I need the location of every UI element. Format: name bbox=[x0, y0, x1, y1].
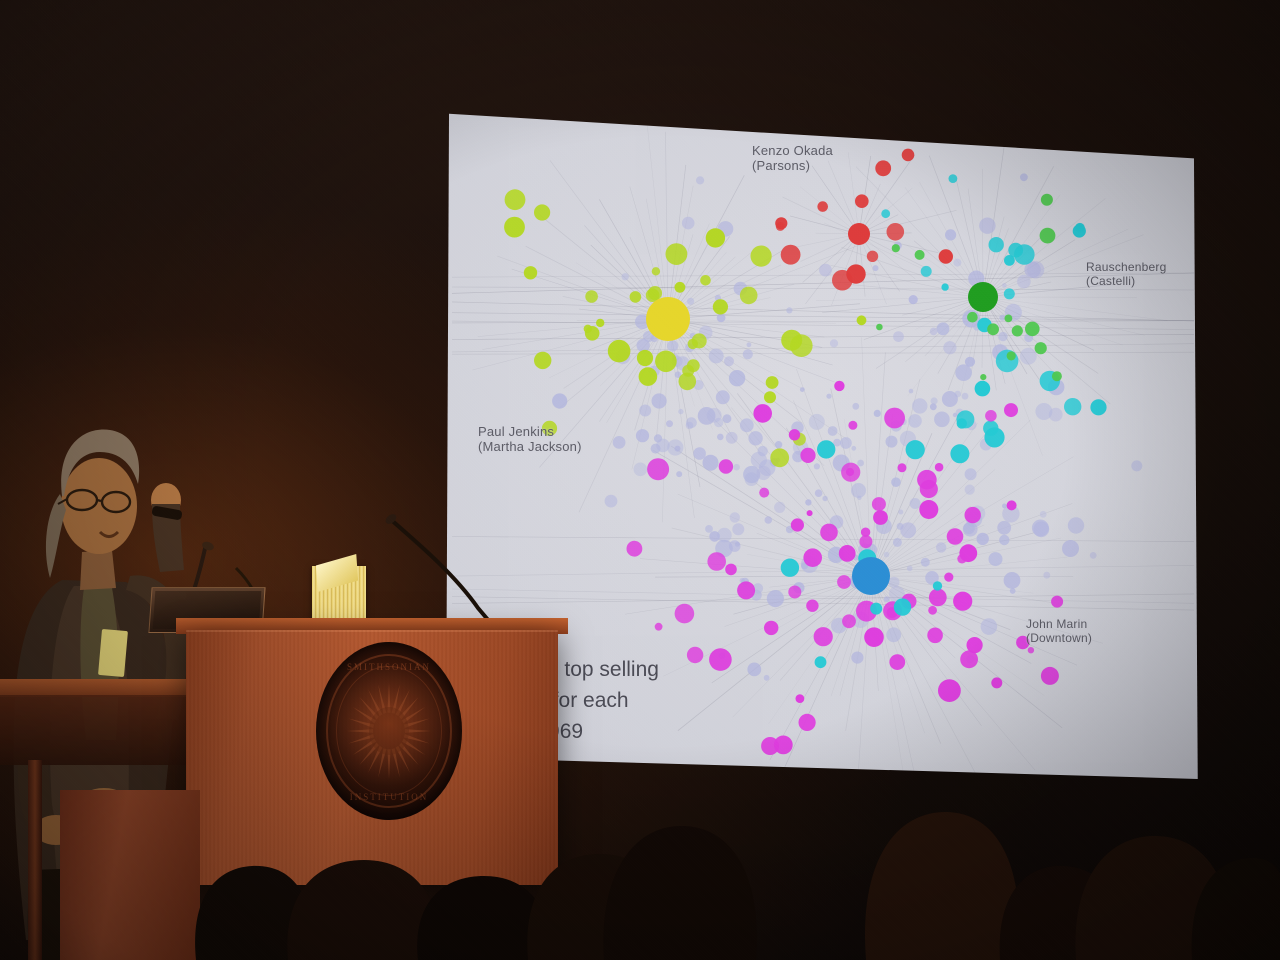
network-node bbox=[1068, 517, 1084, 533]
network-node bbox=[893, 331, 904, 342]
network-node bbox=[724, 356, 734, 366]
speaker-neck bbox=[80, 550, 116, 590]
network-node bbox=[774, 502, 785, 513]
network-node bbox=[799, 714, 816, 731]
network-node bbox=[889, 654, 905, 670]
network-edge bbox=[668, 165, 686, 319]
network-node bbox=[900, 522, 916, 538]
network-node bbox=[687, 647, 703, 663]
speaker-ponytail bbox=[46, 494, 66, 578]
network-edge bbox=[452, 302, 1194, 321]
network-node bbox=[791, 518, 804, 531]
network-edge bbox=[452, 313, 1194, 321]
network-hub-node bbox=[848, 223, 870, 245]
network-node bbox=[826, 394, 831, 399]
network-node bbox=[944, 573, 953, 582]
network-node bbox=[751, 246, 772, 267]
network-node bbox=[857, 460, 864, 467]
network-node bbox=[842, 614, 856, 628]
network-node bbox=[936, 542, 946, 552]
network-node bbox=[534, 204, 550, 220]
network-node bbox=[941, 283, 948, 290]
network-node bbox=[1043, 572, 1050, 579]
network-node bbox=[815, 489, 823, 497]
network-node bbox=[732, 523, 744, 535]
seal-text-top: SMITHSONIAN bbox=[316, 662, 462, 672]
network-node bbox=[675, 282, 686, 293]
network-edge bbox=[983, 297, 1094, 350]
network-edge bbox=[452, 344, 1194, 352]
network-node bbox=[1035, 342, 1047, 354]
network-node bbox=[981, 618, 998, 635]
network-node bbox=[737, 581, 755, 599]
network-node bbox=[1131, 460, 1142, 471]
network-node bbox=[989, 237, 1004, 252]
network-node bbox=[740, 418, 754, 432]
network-node bbox=[892, 244, 900, 252]
network-node bbox=[870, 603, 882, 615]
network-node bbox=[1028, 647, 1034, 653]
network-node bbox=[655, 623, 663, 631]
network-node bbox=[806, 600, 818, 612]
network-node bbox=[608, 340, 631, 363]
network-node bbox=[997, 521, 1011, 535]
network-node bbox=[675, 604, 695, 624]
network-node bbox=[639, 405, 651, 417]
network-edge bbox=[842, 284, 983, 297]
network-node bbox=[814, 627, 833, 646]
network-node bbox=[605, 495, 618, 508]
label-artist: Rauschenberg bbox=[1086, 260, 1166, 274]
network-node bbox=[884, 596, 890, 602]
network-edge bbox=[526, 246, 668, 319]
network-node bbox=[709, 648, 732, 671]
label-gallery: (Downtown) bbox=[1026, 631, 1092, 645]
network-node bbox=[851, 446, 856, 451]
network-node bbox=[682, 217, 695, 230]
network-node bbox=[857, 315, 867, 325]
network-node bbox=[714, 418, 723, 427]
network-node bbox=[1041, 194, 1053, 206]
audience-head bbox=[865, 812, 1019, 960]
network-edge bbox=[816, 297, 983, 301]
network-node bbox=[666, 420, 673, 427]
network-node bbox=[983, 421, 998, 436]
network-node bbox=[723, 414, 732, 423]
network-node bbox=[647, 458, 669, 480]
label-gallery: (Castelli) bbox=[1086, 274, 1166, 288]
network-node bbox=[700, 275, 711, 286]
network-node bbox=[796, 694, 805, 703]
side-table-body bbox=[0, 695, 194, 765]
network-node bbox=[930, 328, 938, 336]
network-node bbox=[1035, 403, 1052, 420]
network-node bbox=[887, 223, 905, 241]
network-node bbox=[807, 510, 813, 516]
network-node bbox=[719, 459, 733, 473]
network-node bbox=[1090, 399, 1106, 415]
network-node bbox=[934, 412, 950, 428]
network-node bbox=[676, 471, 682, 477]
network-node bbox=[675, 446, 681, 452]
network-node bbox=[902, 149, 915, 162]
network-node bbox=[906, 440, 925, 459]
network-node bbox=[884, 408, 905, 429]
network-node bbox=[817, 201, 828, 212]
network-node bbox=[872, 497, 886, 511]
network-node bbox=[730, 512, 740, 522]
network-node bbox=[748, 431, 762, 445]
network-node bbox=[953, 259, 961, 267]
network-node bbox=[652, 267, 660, 275]
network-node bbox=[803, 548, 822, 567]
network-node bbox=[876, 324, 883, 331]
label-artist: John Marin bbox=[1026, 617, 1087, 631]
label-gallery: (Martha Jackson) bbox=[478, 439, 582, 454]
network-node bbox=[855, 194, 869, 208]
network-edge bbox=[452, 565, 1194, 576]
network-node bbox=[837, 575, 851, 589]
network-node bbox=[534, 352, 551, 369]
network-node bbox=[717, 313, 726, 322]
projection-screen: Kenzo Okada (Parsons) Rauschenberg (Cast… bbox=[446, 107, 1200, 783]
audience-silhouettes bbox=[0, 780, 1280, 960]
network-node bbox=[873, 265, 879, 271]
network-node bbox=[953, 592, 972, 611]
network-node bbox=[1007, 351, 1016, 360]
network-node bbox=[692, 333, 707, 348]
network-node bbox=[921, 558, 930, 567]
network-node bbox=[809, 414, 825, 430]
network-hub-node bbox=[646, 297, 690, 341]
network-node bbox=[1040, 511, 1047, 518]
network-node bbox=[965, 468, 977, 480]
network-node bbox=[764, 391, 776, 403]
network-edge bbox=[452, 321, 1194, 329]
network-node bbox=[898, 463, 907, 472]
audience-row bbox=[195, 812, 1280, 960]
network-node bbox=[1073, 224, 1086, 237]
network-node bbox=[884, 552, 890, 558]
network-node bbox=[1025, 322, 1040, 337]
network-node bbox=[637, 339, 650, 352]
network-node bbox=[820, 524, 838, 542]
network-node bbox=[743, 349, 753, 359]
network-node bbox=[686, 417, 697, 428]
network-node bbox=[1020, 348, 1037, 365]
network-node bbox=[942, 391, 958, 407]
network-node bbox=[596, 319, 604, 327]
network-node bbox=[753, 404, 772, 423]
network-edge bbox=[452, 273, 1194, 293]
network-node bbox=[687, 298, 694, 305]
network-node bbox=[881, 209, 890, 218]
network-node bbox=[613, 436, 626, 449]
network-node bbox=[859, 535, 872, 548]
network-node bbox=[938, 679, 961, 702]
network-node bbox=[706, 228, 725, 247]
network-node bbox=[920, 480, 938, 498]
network-node bbox=[1020, 173, 1028, 181]
slide-label-paul-jenkins: Paul Jenkins (Martha Jackson) bbox=[478, 424, 582, 454]
network-node bbox=[1004, 288, 1015, 299]
slide-label-john-marin: John Marin (Downtown) bbox=[1026, 617, 1092, 645]
network-node bbox=[815, 656, 827, 668]
network-node bbox=[840, 437, 852, 449]
network-node bbox=[1051, 596, 1063, 608]
network-node bbox=[634, 463, 648, 477]
network-node bbox=[716, 390, 730, 404]
network-node bbox=[1064, 398, 1081, 415]
network-node bbox=[999, 535, 1009, 545]
network-node bbox=[800, 448, 815, 463]
network-node bbox=[1002, 283, 1007, 288]
network-node bbox=[667, 340, 678, 351]
network-node bbox=[817, 440, 835, 458]
network-node bbox=[766, 376, 779, 389]
network-node bbox=[584, 325, 592, 333]
network-node bbox=[1052, 371, 1062, 381]
network-node bbox=[636, 429, 649, 442]
network-node bbox=[857, 496, 861, 500]
network-node bbox=[1033, 521, 1049, 537]
network-node bbox=[505, 189, 526, 210]
network-node bbox=[682, 365, 694, 377]
network-node bbox=[678, 409, 683, 414]
network-node bbox=[651, 444, 661, 454]
network-node bbox=[1090, 552, 1097, 559]
network-node bbox=[991, 677, 1002, 688]
network-node bbox=[999, 315, 1005, 321]
network-node bbox=[622, 273, 629, 280]
network-node bbox=[886, 436, 898, 448]
network-node bbox=[1041, 667, 1059, 685]
network-node bbox=[945, 229, 956, 240]
network-node bbox=[975, 381, 991, 397]
network-node bbox=[898, 510, 903, 515]
network-node bbox=[775, 217, 787, 229]
network-node bbox=[912, 398, 927, 413]
network-node bbox=[585, 290, 598, 303]
network-node bbox=[851, 483, 866, 498]
network-node bbox=[828, 426, 838, 436]
network-node bbox=[848, 421, 857, 430]
network-node bbox=[867, 251, 878, 262]
network-node bbox=[977, 533, 989, 545]
network-node bbox=[907, 566, 913, 572]
network-node bbox=[639, 367, 658, 386]
network-node bbox=[747, 342, 752, 347]
network-node bbox=[814, 463, 820, 469]
network-edge bbox=[655, 576, 871, 577]
network-node bbox=[652, 393, 667, 408]
network-node bbox=[1005, 315, 1013, 323]
network-node bbox=[894, 598, 911, 615]
network-node bbox=[735, 542, 740, 547]
network-node bbox=[928, 606, 937, 615]
network-node bbox=[933, 581, 942, 590]
network-node bbox=[630, 291, 642, 303]
network-node bbox=[775, 441, 782, 448]
network-node bbox=[919, 500, 938, 519]
network-node bbox=[709, 531, 720, 542]
network-node bbox=[830, 339, 838, 347]
network-node bbox=[725, 564, 737, 576]
network-node bbox=[939, 249, 953, 263]
network-node bbox=[740, 287, 758, 305]
network-node bbox=[998, 332, 1007, 341]
network-node bbox=[800, 387, 805, 392]
network-node bbox=[965, 485, 975, 495]
photo-stage: Kenzo Okada (Parsons) Rauschenberg (Cast… bbox=[0, 0, 1280, 960]
network-node bbox=[765, 516, 773, 524]
network-node bbox=[967, 312, 978, 323]
network-node bbox=[781, 330, 802, 351]
network-node bbox=[1007, 500, 1017, 510]
network-node bbox=[979, 218, 995, 234]
network-node bbox=[962, 393, 969, 400]
network-edge bbox=[452, 334, 1194, 339]
network-node bbox=[985, 410, 997, 422]
network-node bbox=[980, 374, 986, 380]
slide-label-kenzo-okada: Kenzo Okada (Parsons) bbox=[752, 143, 833, 173]
speaker-head bbox=[61, 458, 137, 554]
network-node bbox=[846, 264, 865, 283]
network-node bbox=[873, 510, 888, 525]
network-hub-node bbox=[968, 282, 998, 312]
network-node bbox=[822, 496, 827, 501]
network-node bbox=[930, 403, 937, 410]
network-node bbox=[909, 295, 918, 304]
network-node bbox=[1040, 228, 1056, 244]
network-node bbox=[729, 370, 745, 386]
network-node bbox=[524, 266, 537, 279]
network-node bbox=[552, 393, 567, 408]
network-node bbox=[943, 341, 956, 354]
network-node bbox=[886, 627, 901, 642]
slide-label-rauschenberg: Rauschenberg (Castelli) bbox=[1086, 260, 1166, 288]
network-node bbox=[1062, 540, 1079, 557]
network-node bbox=[693, 447, 706, 460]
network-node bbox=[747, 663, 761, 677]
network-node bbox=[757, 466, 771, 480]
network-node bbox=[1012, 325, 1023, 336]
network-node bbox=[774, 736, 793, 755]
network-node bbox=[864, 627, 884, 647]
network-node bbox=[819, 264, 832, 277]
network-node bbox=[987, 323, 999, 335]
label-artist: Kenzo Okada bbox=[752, 143, 833, 158]
network-edge bbox=[665, 132, 668, 319]
network-node bbox=[874, 410, 881, 417]
network-node bbox=[841, 463, 860, 482]
network-node bbox=[875, 160, 891, 176]
network-node bbox=[950, 444, 969, 463]
network-edge bbox=[983, 128, 1007, 297]
network-node bbox=[713, 299, 728, 314]
network-node bbox=[921, 266, 932, 277]
network-node bbox=[852, 403, 859, 410]
network-node bbox=[654, 434, 662, 442]
network-node bbox=[967, 637, 983, 653]
network-node bbox=[703, 455, 719, 471]
network-node bbox=[627, 541, 643, 557]
audience-head bbox=[603, 826, 756, 960]
network-node bbox=[1002, 504, 1007, 509]
network-node bbox=[908, 414, 922, 428]
network-node bbox=[910, 498, 921, 509]
network-node bbox=[789, 429, 800, 440]
network-node bbox=[947, 528, 964, 545]
network-node bbox=[839, 545, 856, 562]
network-node bbox=[909, 389, 914, 394]
network-node bbox=[705, 525, 713, 533]
network-node bbox=[989, 552, 1003, 566]
network-edge bbox=[800, 187, 859, 234]
network-node bbox=[955, 364, 972, 381]
network-edge bbox=[856, 167, 983, 297]
network-node bbox=[637, 350, 653, 366]
network-edge bbox=[452, 352, 1194, 354]
network-edge bbox=[668, 319, 836, 324]
network-node bbox=[770, 448, 789, 467]
network-node bbox=[1004, 572, 1021, 589]
network-edge bbox=[539, 215, 668, 319]
network-node bbox=[959, 544, 977, 562]
network-node bbox=[851, 652, 863, 664]
network-node bbox=[759, 488, 769, 498]
network-node bbox=[1027, 261, 1044, 278]
network-node bbox=[655, 351, 677, 373]
network-node bbox=[764, 675, 770, 681]
network-node bbox=[1004, 403, 1018, 417]
network-node bbox=[957, 418, 967, 428]
network-node bbox=[758, 446, 768, 456]
network-node bbox=[781, 559, 799, 577]
network-node bbox=[927, 628, 943, 644]
network-node bbox=[834, 381, 844, 391]
network-node bbox=[709, 349, 724, 364]
network-node bbox=[504, 217, 525, 238]
network-node bbox=[733, 464, 740, 471]
network-node bbox=[1008, 243, 1023, 258]
network-node bbox=[767, 590, 784, 607]
network-node bbox=[726, 432, 738, 444]
network-node bbox=[666, 243, 688, 265]
network-node bbox=[781, 245, 801, 265]
network-node bbox=[1010, 588, 1016, 594]
network-node bbox=[937, 322, 950, 335]
network-node bbox=[953, 413, 957, 417]
network-node bbox=[788, 586, 801, 599]
speaker-name-badge bbox=[98, 629, 128, 677]
network-node bbox=[891, 477, 901, 487]
network-node bbox=[764, 621, 778, 635]
network-node bbox=[949, 174, 958, 183]
network-node bbox=[893, 538, 902, 547]
network-hub-node bbox=[852, 557, 890, 595]
network-edge bbox=[871, 576, 1073, 577]
network-edge bbox=[452, 589, 1194, 603]
network-node bbox=[929, 589, 947, 607]
network-node bbox=[717, 434, 724, 441]
network-node bbox=[786, 307, 792, 313]
network-edge bbox=[871, 352, 885, 576]
network-node bbox=[915, 250, 925, 260]
network-node bbox=[648, 286, 662, 300]
network-node bbox=[889, 577, 900, 588]
network-node bbox=[805, 499, 811, 505]
